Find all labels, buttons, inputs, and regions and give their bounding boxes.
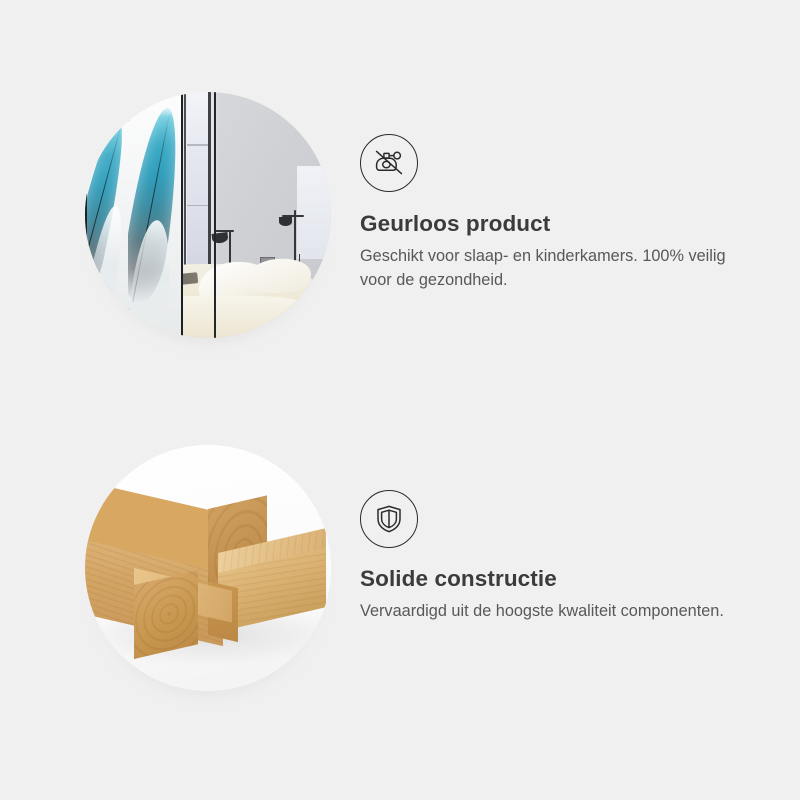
feature-block-solide-constructie: Solide constructie Vervaardigd uit de ho… <box>0 438 800 708</box>
bedroom-window-secondary <box>297 166 331 259</box>
wooden-blocks-scene <box>85 445 331 691</box>
art-panel-center <box>128 92 183 338</box>
feature-media-bedroom-feather-triptych-photo <box>85 92 331 338</box>
bedroom-scene <box>85 92 331 338</box>
art-panel-left <box>85 92 130 338</box>
product-features-page: Geurloos product Geschikt voor slaap- en… <box>0 0 800 800</box>
feature-description: Vervaardigd uit de hoogste kwaliteit com… <box>360 600 724 624</box>
feature-title: Solide constructie <box>360 566 557 592</box>
no-fragrance-perfume-bottle-icon <box>360 134 418 192</box>
wall-lamp-shade <box>279 217 291 225</box>
feature-media-wooden-blocks-photo <box>85 445 331 691</box>
art-panel-edge-right <box>214 92 216 338</box>
circular-photo-frame <box>85 92 331 338</box>
art-panel-edge-left <box>85 92 87 338</box>
feature-title: Geurloos product <box>360 211 550 237</box>
feature-description: Geschikt voor slaap- en kinderkamers. 10… <box>360 245 745 292</box>
feature-block-geurloos-product: Geurloos product Geschikt voor slaap- en… <box>0 85 800 355</box>
wood-block-front-end-grain <box>134 570 198 659</box>
shield-icon <box>360 490 418 548</box>
circular-photo-frame <box>85 445 331 691</box>
